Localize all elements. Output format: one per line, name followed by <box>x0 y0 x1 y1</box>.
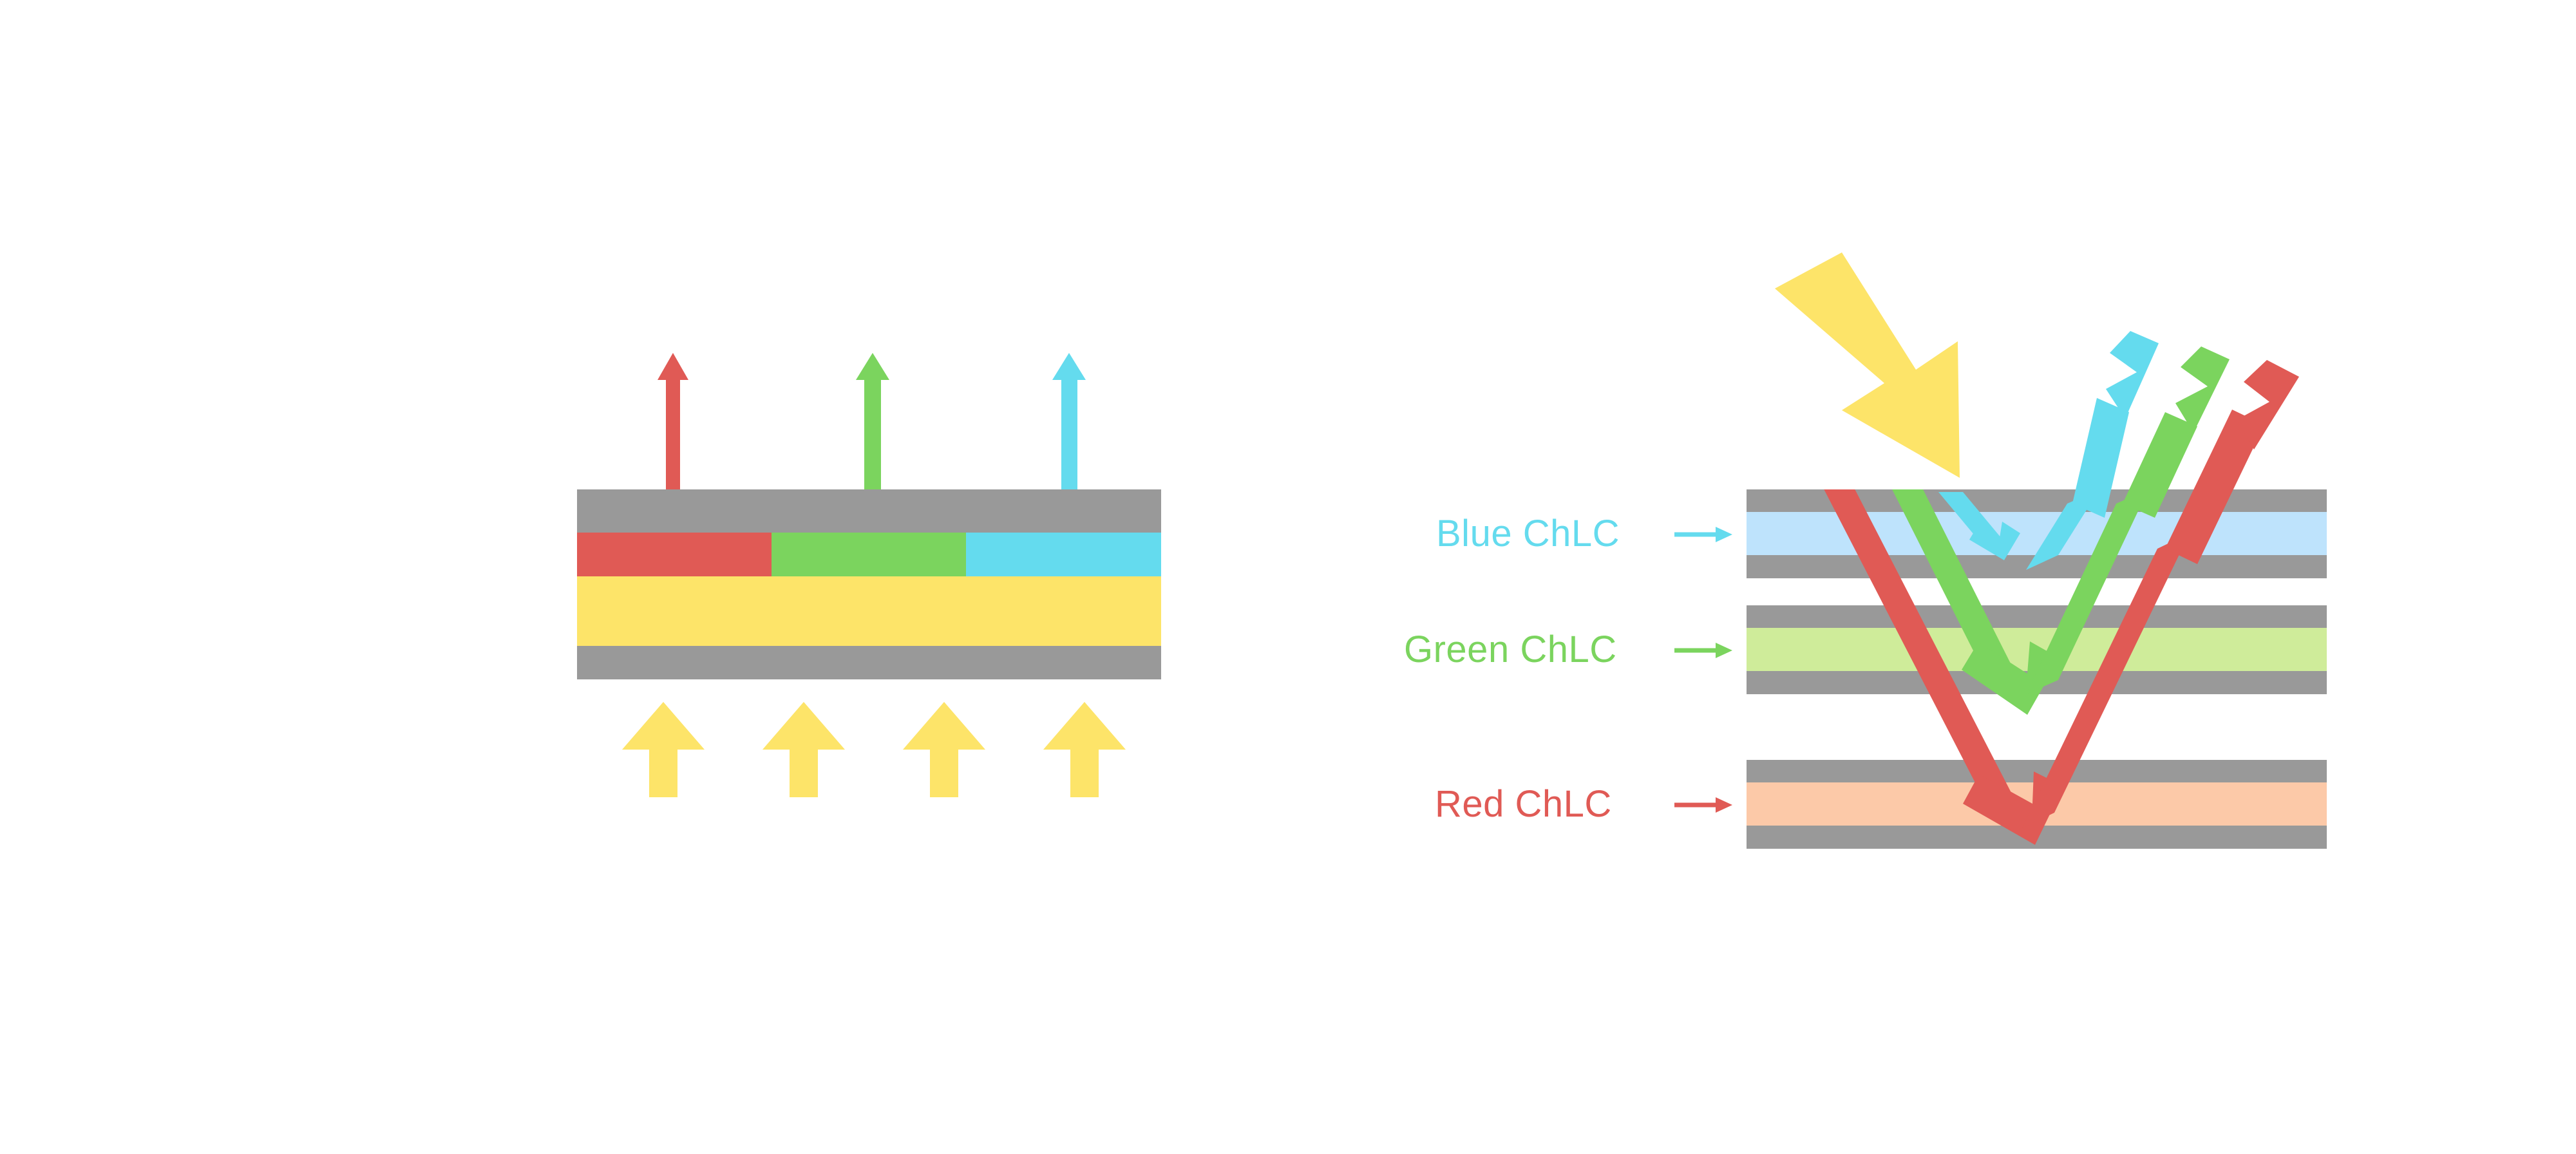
color-filter-row <box>577 533 1161 576</box>
emitted-arrow-group <box>658 353 1086 500</box>
backlight-arrow-3 <box>903 702 985 797</box>
red-chlc-label-arrow-icon <box>1674 797 1732 813</box>
chlc-label-group: Blue ChLC Green ChLC Red ChLC <box>1404 513 1732 825</box>
white-light-incident-arrow <box>1775 252 1960 478</box>
blue-filter-segment <box>966 533 1161 576</box>
blue-chlc-label: Blue ChLC <box>1436 513 1620 554</box>
diagram-root: Blue ChLC Green ChLC Red ChLC <box>0 0 2576 1154</box>
green-cell-top-bar <box>1747 605 2327 628</box>
blue-chlc-label-arrow-icon <box>1674 527 1732 542</box>
blue-emitted-arrow <box>1052 353 1086 500</box>
red-filter-segment <box>577 533 772 576</box>
blue-chlc-layer <box>1747 512 2327 555</box>
bottom-substrate-layer <box>577 646 1161 679</box>
green-emitted-arrow <box>856 353 889 500</box>
backlight-layer <box>577 576 1161 646</box>
left-panel-color-filter-stack <box>577 353 1161 797</box>
backlight-arrow-4 <box>1043 702 1126 797</box>
top-substrate-layer <box>577 489 1161 533</box>
right-panel-chlc-stack: Blue ChLC Green ChLC Red ChLC <box>1404 252 2327 849</box>
backlight-arrow-2 <box>762 702 845 797</box>
backlight-arrow-1 <box>622 702 705 797</box>
green-filter-segment <box>772 533 966 576</box>
red-chlc-label: Red ChLC <box>1435 783 1612 825</box>
green-ray-outgoing-head <box>2175 346 2230 433</box>
backlight-arrow-group <box>622 702 1126 797</box>
red-emitted-arrow <box>658 353 688 500</box>
green-chlc-label: Green ChLC <box>1404 629 1617 670</box>
green-chlc-label-arrow-icon <box>1674 643 1732 658</box>
diagram-canvas: Blue ChLC Green ChLC Red ChLC <box>0 0 2576 1154</box>
